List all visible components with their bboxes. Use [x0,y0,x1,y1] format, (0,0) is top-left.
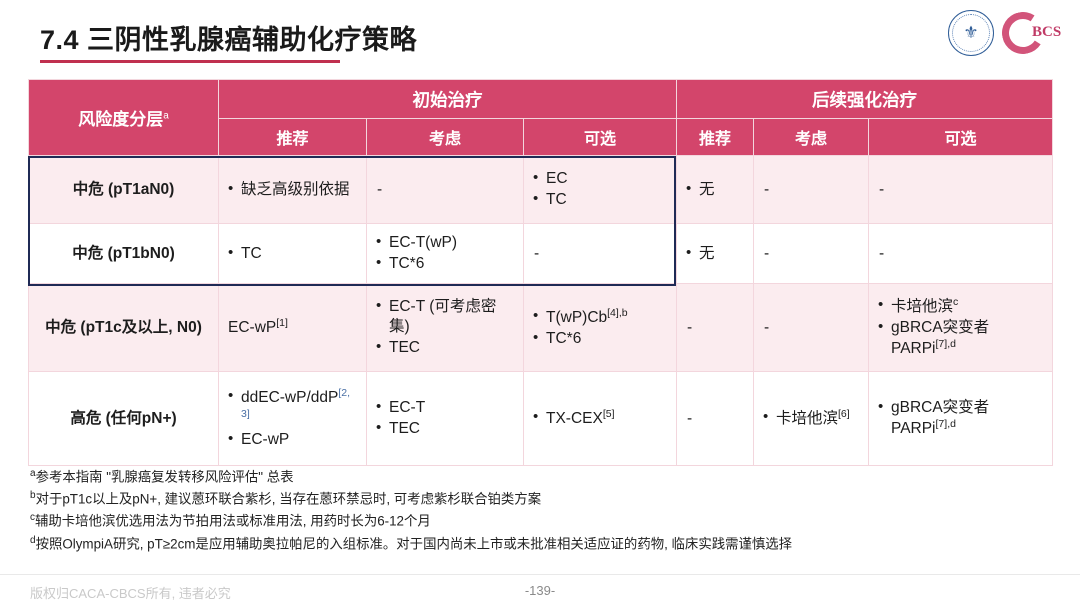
bullet-item: 无 [686,180,744,200]
cell-initial-optional: T(wP)Cb[4],bTC*6 [524,284,677,372]
slide-canvas: CACA-CBCS 7.4 三阴性乳腺癌辅助化疗策略 ⚜ BCS 风险度分层a … [0,0,1080,608]
cell-bullet-list: ddEC-wP/ddP[2, 3]EC-wP [228,387,357,450]
cell-followup-optional: - [869,224,1053,284]
cell-risk: 中危 (pT1c及以上, N0) [29,284,219,372]
cell-initial-consider: - [367,156,524,224]
header-risk-stratification: 风险度分层a [29,80,219,156]
cell-text: - [764,245,769,262]
bullet-item: TC [228,244,357,264]
bcs-logo-icon: BCS [1002,11,1064,55]
header-followup-recommend: 推荐 [677,119,754,156]
cell-text: - [879,181,884,198]
header-followup-optional: 可选 [869,119,1053,156]
bcs-logo-label: BCS [1032,24,1061,41]
cell-bullet-list: 无 [686,180,744,200]
cell-initial-consider: EC-T(wP)TC*6 [367,224,524,284]
cell-bullet-list: EC-T (可考虑密集)TEC [376,297,514,357]
cell-followup-recommend: 无 [677,156,754,224]
cell-risk: 中危 (pT1aN0) [29,156,219,224]
bullet-item: TC*6 [533,329,667,349]
cell-text: - [377,181,382,198]
bullet-item: EC-T [376,398,514,418]
header-initial-optional: 可选 [524,119,677,156]
header-initial-consider: 考虑 [367,119,524,156]
cell-followup-recommend: - [677,372,754,466]
bullet-item: 卡培他滨[6] [763,408,859,429]
table-row: 高危 (任何pN+)ddEC-wP/ddP[2, 3]EC-wPEC-TTECT… [29,372,1053,466]
bullet-item: T(wP)Cb[4],b [533,307,667,328]
footnote-text: 辅助卡培他滨优选用法为节拍用法或标准用法, 用药时长为6-12个月 [35,514,431,529]
cell-bullet-list: EC-T(wP)TC*6 [376,233,514,274]
cell-followup-optional: 卡培他滨cgBRCA突变者PARPi[7],d [869,284,1053,372]
cell-followup-recommend: - [677,284,754,372]
cell-initial-consider: EC-T (可考虑密集)TEC [367,284,524,372]
cell-initial-recommend: ddEC-wP/ddP[2, 3]EC-wP [219,372,367,466]
footnote-list: a参考本指南 "乳腺癌复发转移风险评估" 总表b对于pT1c以上及pN+, 建议… [30,466,1060,555]
bullet-item: EC-T(wP) [376,233,514,253]
cell-initial-optional: TX-CEX[5] [524,372,677,466]
cell-followup-optional: - [869,156,1053,224]
cell-followup-consider: - [754,284,869,372]
cell-followup-consider: - [754,156,869,224]
cell-text: 中危 (pT1bN0) [72,245,174,262]
bullet-item: TEC [376,419,514,439]
cell-risk: 高危 (任何pN+) [29,372,219,466]
bullet-item: ddEC-wP/ddP[2, 3] [228,387,357,429]
page-title: 7.4 三阴性乳腺癌辅助化疗策略 [40,18,417,57]
table-head: 风险度分层a 初始治疗 后续强化治疗 推荐 考虑 可选 推荐 考虑 可选 [29,80,1053,156]
cell-bullet-list: TC [228,244,357,264]
cell-text: - [764,319,769,336]
chemotherapy-strategy-table: 风险度分层a 初始治疗 后续强化治疗 推荐 考虑 可选 推荐 考虑 可选 中危 … [28,79,1053,466]
cell-text: EC-wP[1] [228,319,288,336]
cell-text: - [687,410,692,427]
cell-initial-recommend: EC-wP[1] [219,284,367,372]
bullet-item: gBRCA突变者PARPi[7],d [878,318,1043,359]
cell-text: - [879,245,884,262]
bullet-item: TC [533,190,667,210]
cell-initial-recommend: TC [219,224,367,284]
cell-followup-consider: - [754,224,869,284]
bullet-item: TC*6 [376,254,514,274]
cell-bullet-list: 无 [686,244,744,264]
footnote-text: 按照OlympiA研究, pT≥2cm是应用辅助奥拉帕尼的入组标准。对于国内尚未… [36,536,793,551]
cell-text: 中危 (pT1c及以上, N0) [45,319,202,336]
cell-bullet-list: gBRCA突变者PARPi[7],d [878,398,1043,439]
cell-text: - [687,319,692,336]
table-row: 中危 (pT1c及以上, N0)EC-wP[1]EC-T (可考虑密集)TECT… [29,284,1053,372]
cell-bullet-list: 卡培他滨cgBRCA突变者PARPi[7],d [878,296,1043,359]
cell-initial-recommend: 缺乏高级别依据 [219,156,367,224]
cell-bullet-list: EC-TTEC [376,398,514,439]
cell-followup-optional: gBRCA突变者PARPi[7],d [869,372,1053,466]
cell-bullet-list: 卡培他滨[6] [763,408,859,429]
caca-logo-icon: ⚜ [948,10,994,56]
bullet-item: gBRCA突变者PARPi[7],d [878,398,1043,439]
header-group-followup-treatment: 后续强化治疗 [677,80,1053,119]
page-number: -139- [0,583,1080,598]
bullet-item: EC-T (可考虑密集) [376,297,514,337]
cell-bullet-list: TX-CEX[5] [533,408,667,429]
title-underline [40,60,340,63]
footer-bar: 版权归CACA-CBCS所有, 违者必究 -139- [0,574,1080,608]
table-row: 中危 (pT1bN0)TCEC-T(wP)TC*6-无-- [29,224,1053,284]
cell-risk: 中危 (pT1bN0) [29,224,219,284]
footnote-text: 对于pT1c以上及pN+, 建议蒽环联合紫杉, 当存在蒽环禁忌时, 可考虑紫杉联… [36,492,542,507]
bullet-item: 无 [686,244,744,264]
table-body: 中危 (pT1aN0)缺乏高级别依据-ECTC无--中危 (pT1bN0)TCE… [29,156,1053,466]
bullet-item: TX-CEX[5] [533,408,667,429]
cell-text: - [534,245,539,262]
bullet-item: 卡培他滨c [878,296,1043,317]
footnote: d按照OlympiA研究, pT≥2cm是应用辅助奥拉帕尼的入组标准。对于国内尚… [30,533,1060,555]
header-followup-consider: 考虑 [754,119,869,156]
cell-bullet-list: T(wP)Cb[4],bTC*6 [533,307,667,349]
cell-initial-optional: - [524,224,677,284]
cell-initial-optional: ECTC [524,156,677,224]
table-row: 中危 (pT1aN0)缺乏高级别依据-ECTC无-- [29,156,1053,224]
bullet-item: TEC [376,338,514,358]
footnote: b对于pT1c以上及pN+, 建议蒽环联合紫杉, 当存在蒽环禁忌时, 可考虑紫杉… [30,488,1060,510]
bullet-item: 缺乏高级别依据 [228,180,357,200]
cell-text: - [764,181,769,198]
footnote: c辅助卡培他滨优选用法为节拍用法或标准用法, 用药时长为6-12个月 [30,510,1060,532]
footnote-text: 参考本指南 "乳腺癌复发转移风险评估" 总表 [36,469,294,484]
cell-followup-recommend: 无 [677,224,754,284]
bullet-item: EC [533,169,667,189]
cell-followup-consider: 卡培他滨[6] [754,372,869,466]
cell-text: 中危 (pT1aN0) [73,181,175,198]
bullet-item: EC-wP [228,430,357,450]
cell-text: 高危 (任何pN+) [70,410,176,427]
logo-group: ⚜ BCS [948,10,1064,56]
header-initial-recommend: 推荐 [219,119,367,156]
footnote: a参考本指南 "乳腺癌复发转移风险评估" 总表 [30,466,1060,488]
cell-initial-consider: EC-TTEC [367,372,524,466]
cell-bullet-list: ECTC [533,169,667,210]
header-group-initial-treatment: 初始治疗 [219,80,677,119]
cell-bullet-list: 缺乏高级别依据 [228,180,357,200]
